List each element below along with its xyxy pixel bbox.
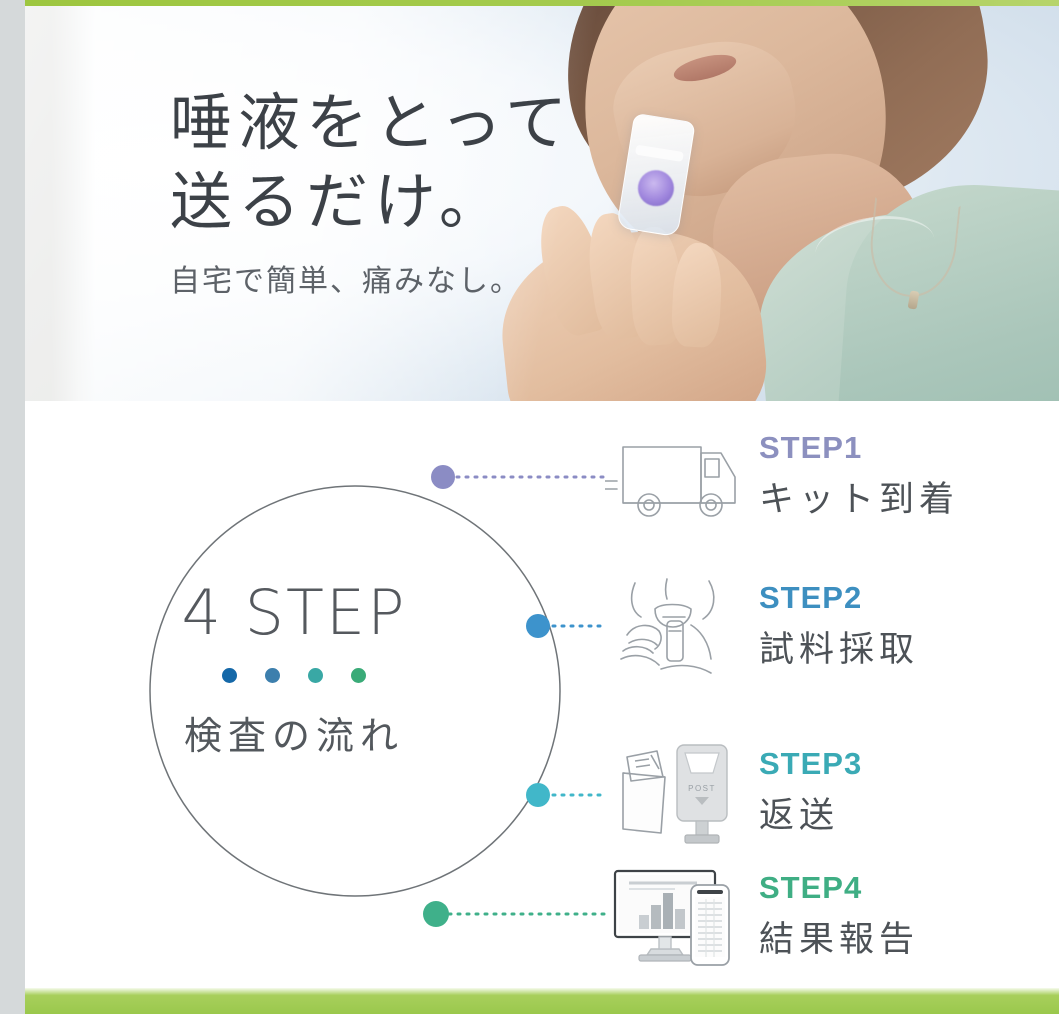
step-caption-1: キット到着	[759, 471, 959, 522]
svg-text:POST: POST	[688, 784, 716, 793]
hero-banner: 唾液をとって 送るだけ。 自宅で簡単、痛みなし。	[25, 5, 1059, 401]
flow-section: 4 STEP 検査の流れ	[25, 401, 1059, 988]
step-text-1: STEP1 キット到着	[759, 432, 959, 522]
device-band	[635, 145, 684, 162]
flow-brand-dots	[149, 668, 439, 683]
flow-brand-subtitle: 検査の流れ	[149, 705, 439, 760]
brand-dot-2	[265, 668, 280, 683]
step-label-4: STEP4	[759, 872, 919, 905]
hero-headline-line2: 送るだけ。	[170, 162, 573, 241]
step-row-2[interactable]: STEP2 試料採取	[605, 573, 919, 681]
step-text-4: STEP4 結果報告	[759, 872, 919, 962]
device-sample-window	[635, 168, 676, 209]
flow-brand-title: 4 STEP	[149, 582, 439, 644]
step-caption-2: 試料採取	[759, 621, 919, 672]
hero-left-shadow-band	[25, 5, 95, 401]
flow-node-step2	[526, 614, 550, 638]
brand-dot-3	[308, 668, 323, 683]
step-caption-4: 結果報告	[759, 911, 919, 962]
flow-node-step3	[526, 783, 550, 807]
flow-node-step4	[423, 901, 449, 927]
step-label-3: STEP3	[759, 748, 862, 781]
brand-dot-1	[222, 668, 237, 683]
step-label-1: STEP1	[759, 432, 959, 465]
hero-subheadline: 自宅で簡単、痛みなし。	[170, 256, 573, 300]
monitor-phone-report-icon	[605, 863, 745, 971]
step-row-4[interactable]: STEP4 結果報告	[605, 863, 919, 971]
flow-brand-block: 4 STEP 検査の流れ	[149, 582, 439, 760]
brand-dot-4	[351, 668, 366, 683]
hero-headline-line1: 唾液をとって	[170, 83, 573, 162]
top-green-rule	[25, 0, 1059, 6]
hero-text-block: 唾液をとって 送るだけ。 自宅で簡単、痛みなし。	[170, 83, 573, 300]
step-caption-3: 返送	[759, 787, 862, 838]
step-row-3[interactable]: POST STEP3 返送	[605, 739, 862, 847]
delivery-truck-icon	[605, 423, 745, 531]
page-root: 唾液をとって 送るだけ。 自宅で簡単、痛みなし。	[0, 0, 1059, 1014]
step-text-3: STEP3 返送	[759, 748, 862, 838]
postbox-envelope-icon: POST	[605, 739, 745, 847]
bottom-green-rule	[25, 988, 1059, 1014]
step-text-2: STEP2 試料採取	[759, 582, 919, 672]
content-column: 唾液をとって 送るだけ。 自宅で簡単、痛みなし。	[25, 0, 1059, 1014]
step-label-2: STEP2	[759, 582, 919, 615]
flow-node-step1	[431, 465, 455, 489]
saliva-collection-icon	[605, 573, 745, 681]
step-row-1[interactable]: STEP1 キット到着	[605, 423, 959, 531]
